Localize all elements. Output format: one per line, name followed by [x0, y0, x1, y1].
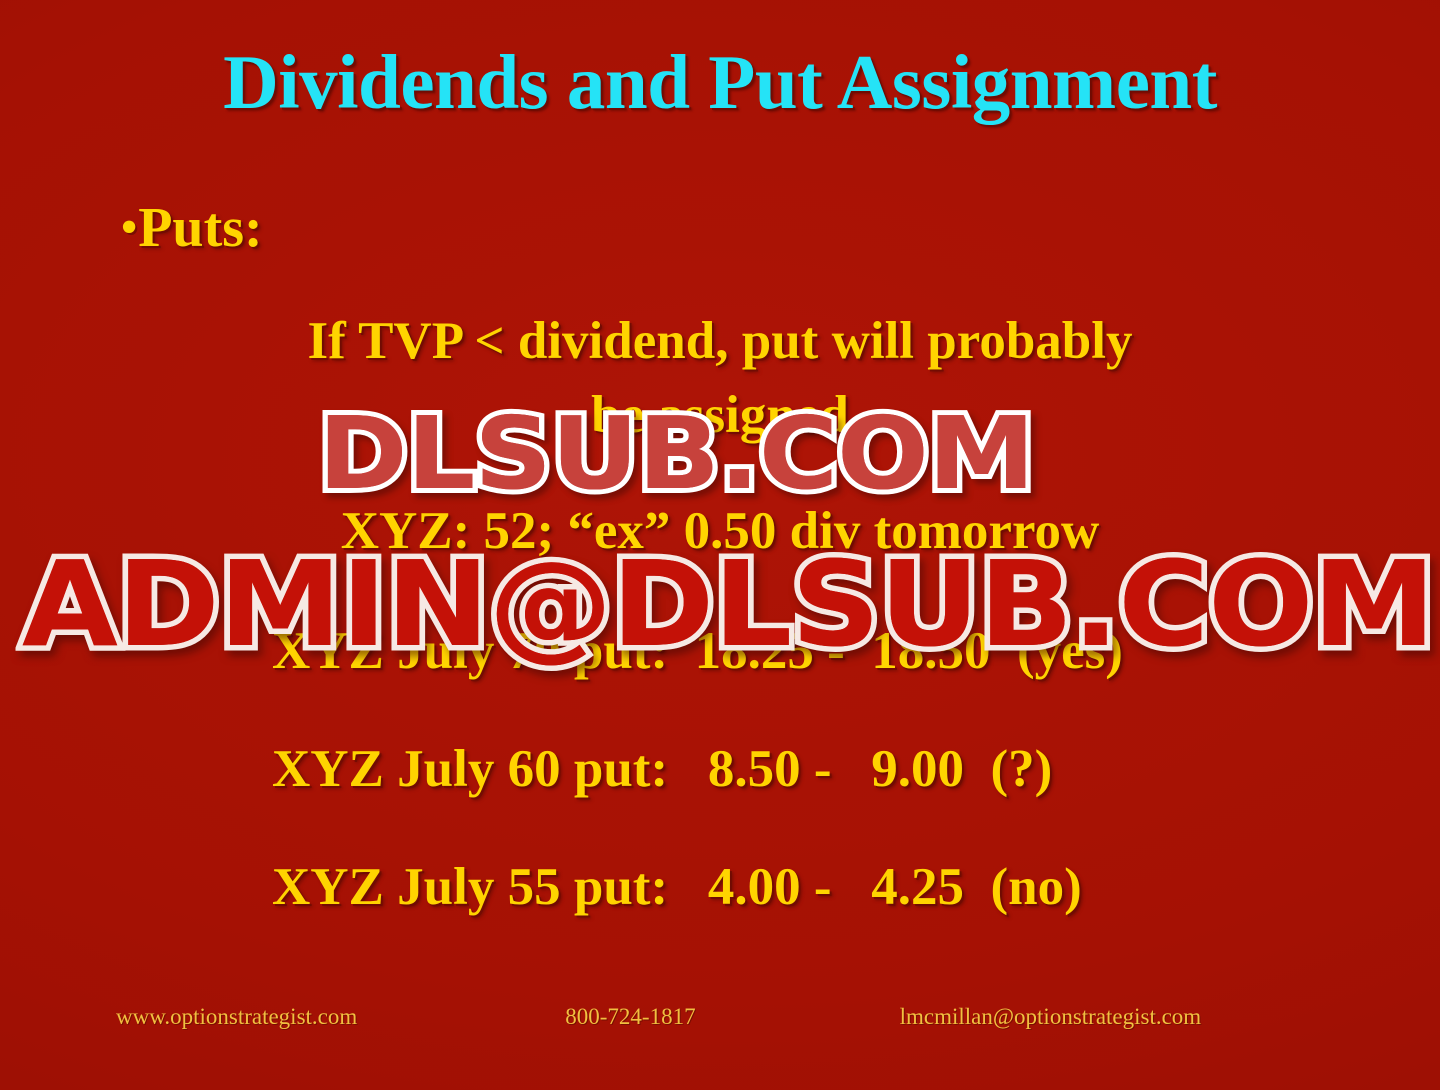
bullet-label: Puts: [138, 196, 262, 260]
footer-email: lmcmillan@optionstrategist.com [900, 1004, 1202, 1030]
watermark-site: DLSUB.COM [318, 404, 1034, 504]
bullet-dot-icon: • [120, 202, 138, 254]
slide-footer: www.optionstrategist.com 800-724-1817 lm… [0, 1004, 1440, 1030]
watermark-email: ADMIN@DLSUB.COM [22, 545, 1435, 663]
bullet-puts: • Puts: [120, 196, 263, 260]
body-line-6: XYZ July 55 put: 4.00 - 4.25 (no) [0, 861, 1440, 914]
body-line-5: XYZ July 60 put: 8.50 - 9.00 (?) [0, 743, 1440, 796]
page-title: Dividends and Put Assignment [0, 42, 1440, 122]
footer-phone: 800-724-1817 [565, 1004, 695, 1030]
slide-canvas: Dividends and Put Assignment • Puts: If … [0, 0, 1440, 1090]
footer-website: www.optionstrategist.com [116, 1004, 357, 1030]
body-line-1: If TVP < dividend, put will probably [0, 315, 1440, 368]
